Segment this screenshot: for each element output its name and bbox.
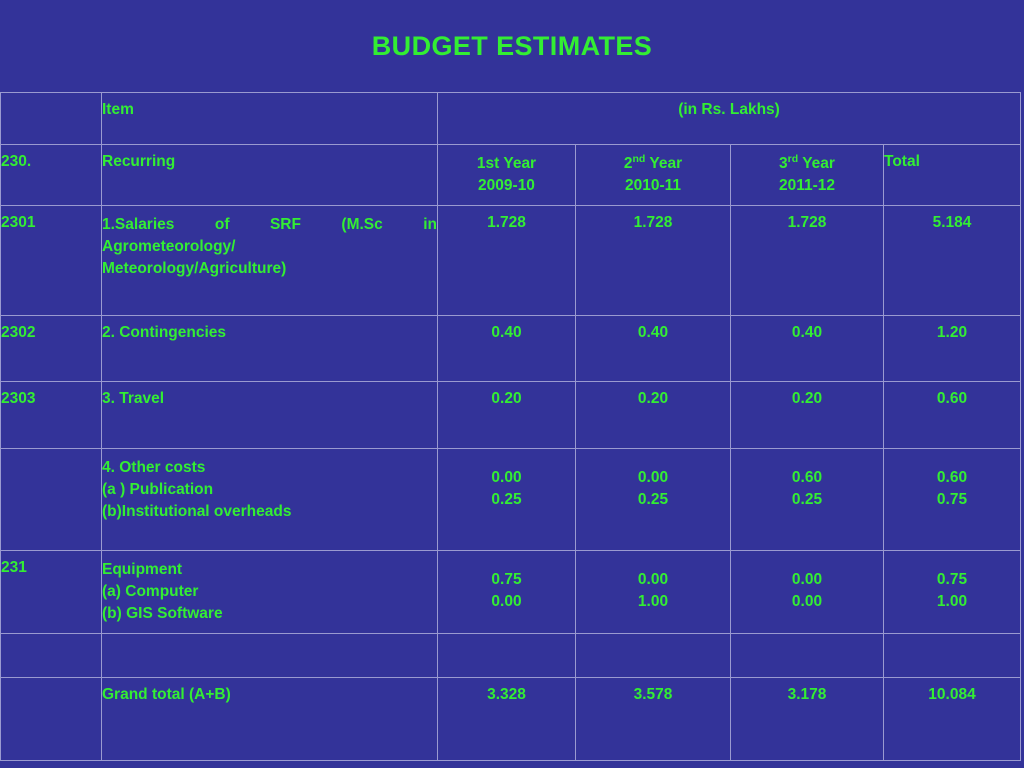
year2-word: Year (645, 155, 682, 172)
row-code: 231 (1, 551, 102, 634)
table-row: 2301 1.Salaries of SRF (M.Sc in Agromete… (1, 206, 1021, 316)
table-row-blank (1, 634, 1021, 678)
title-zone: BUDGET ESTIMATES (0, 0, 1024, 92)
row-year2 (576, 634, 731, 678)
table-row: 2302 2. Contingencies 0.40 0.40 0.40 1.2… (1, 316, 1021, 382)
row-year2: 1.728 (576, 206, 731, 316)
year3-word: Year (798, 155, 835, 172)
table-row-grand-total: Grand total (A+B) 3.328 3.578 3.178 10.0… (1, 678, 1021, 761)
subheader-total: Total (884, 145, 1021, 206)
row-item-line: (a) Computer (102, 581, 437, 603)
row-item: Equipment (a) Computer (b) GIS Software (102, 551, 438, 634)
row-item-line: Equipment (102, 559, 437, 581)
row-item-line: (b)Institutional overheads (102, 501, 437, 523)
row-year1: 0.20 (438, 382, 576, 449)
subheader-code: 230. (1, 145, 102, 206)
row-year3: 1.728 (731, 206, 884, 316)
grand-total-label: Grand total (A+B) (102, 678, 438, 761)
row-year1-value: 0.25 (438, 489, 575, 511)
row-code (1, 634, 102, 678)
row-year1: 0.75 0.00 (438, 551, 576, 634)
grand-total-year1: 3.328 (438, 678, 576, 761)
row-code: 2303 (1, 382, 102, 449)
row-item-line: 4. Other costs (102, 457, 437, 479)
row-code (1, 678, 102, 761)
row-total-value: 0.75 (884, 489, 1020, 511)
year3-num: 3 (779, 155, 788, 172)
subheader-year1-line2: 2009-10 (438, 175, 575, 197)
row-item: 4. Other costs (a ) Publication (b)Insti… (102, 449, 438, 551)
row-year1-value: 0.00 (438, 467, 575, 489)
row-item-line: (b) GIS Software (102, 603, 437, 625)
row-year2: 0.00 1.00 (576, 551, 731, 634)
row-total-value: 1.00 (884, 591, 1020, 613)
row-total: 0.60 0.75 (884, 449, 1021, 551)
row-total: 0.60 (884, 382, 1021, 449)
row-year1: 0.40 (438, 316, 576, 382)
subheader-item: Recurring (102, 145, 438, 206)
row-total-value: 0.75 (884, 569, 1020, 591)
row-item-line: Agrometeorology/ (102, 236, 437, 258)
row-year2-value: 0.00 (576, 467, 730, 489)
row-code: 2301 (1, 206, 102, 316)
year3-ordinal-sup: rd (788, 153, 799, 165)
row-item (102, 634, 438, 678)
row-total: 5.184 (884, 206, 1021, 316)
spacer (576, 457, 730, 467)
row-code (1, 449, 102, 551)
row-total (884, 634, 1021, 678)
row-year1: 1.728 (438, 206, 576, 316)
row-year1-value: 0.00 (438, 591, 575, 613)
subheader-year3: 3rd Year 2011-12 (731, 145, 884, 206)
row-total-value: 0.60 (884, 467, 1020, 489)
row-item: 3. Travel (102, 382, 438, 449)
spacer (576, 559, 730, 569)
spacer (731, 559, 883, 569)
row-year2: 0.40 (576, 316, 731, 382)
year2-ordinal-sup: nd (632, 153, 645, 165)
spacer (884, 559, 1020, 569)
table-row: 2303 3. Travel 0.20 0.20 0.20 0.60 (1, 382, 1021, 449)
slide-canvas: BUDGET ESTIMATES Item (in Rs. Lakhs) 230… (0, 0, 1024, 768)
subheader-year2: 2nd Year 2010-11 (576, 145, 731, 206)
table-subheader-row: 230. Recurring 1st Year 2009-10 2nd Year… (1, 145, 1021, 206)
subheader-year1-line1: 1st Year (438, 153, 575, 175)
row-year3-value: 0.25 (731, 489, 883, 511)
row-year2: 0.20 (576, 382, 731, 449)
row-item: 2. Contingencies (102, 316, 438, 382)
row-year2-value: 0.25 (576, 489, 730, 511)
grand-total-year3: 3.178 (731, 678, 884, 761)
row-total: 1.20 (884, 316, 1021, 382)
row-year3: 0.20 (731, 382, 884, 449)
row-year3-value: 0.00 (731, 569, 883, 591)
row-item-line: Meteorology/Agriculture) (102, 258, 437, 280)
row-year1 (438, 634, 576, 678)
page-title: BUDGET ESTIMATES (372, 31, 652, 62)
table-row: 4. Other costs (a ) Publication (b)Insti… (1, 449, 1021, 551)
row-item-line: 1.Salaries of SRF (M.Sc in (102, 214, 437, 236)
row-year2-value: 0.00 (576, 569, 730, 591)
subheader-year3-line2: 2011-12 (731, 175, 883, 197)
subheader-year2-line1: 2nd Year (576, 153, 730, 175)
row-total: 0.75 1.00 (884, 551, 1021, 634)
spacer (438, 457, 575, 467)
grand-total-year2: 3.578 (576, 678, 731, 761)
row-year3: 0.40 (731, 316, 884, 382)
spacer (438, 559, 575, 569)
row-year3: 0.00 0.00 (731, 551, 884, 634)
row-year1-value: 0.75 (438, 569, 575, 591)
grand-total-total: 10.084 (884, 678, 1021, 761)
header-code-cell (1, 93, 102, 145)
row-year3 (731, 634, 884, 678)
row-year3-value: 0.00 (731, 591, 883, 613)
row-year3: 0.60 0.25 (731, 449, 884, 551)
spacer (731, 457, 883, 467)
table-row: 231 Equipment (a) Computer (b) GIS Softw… (1, 551, 1021, 634)
row-item-line: (a ) Publication (102, 479, 437, 501)
row-year2-value: 1.00 (576, 591, 730, 613)
row-year1: 0.00 0.25 (438, 449, 576, 551)
spacer (884, 457, 1020, 467)
subheader-year1: 1st Year 2009-10 (438, 145, 576, 206)
budget-estimates-table: Item (in Rs. Lakhs) 230. Recurring 1st Y… (0, 92, 1021, 761)
row-year3-value: 0.60 (731, 467, 883, 489)
subheader-year2-line2: 2010-11 (576, 175, 730, 197)
subheader-year3-line1: 3rd Year (731, 153, 883, 175)
table-header-row: Item (in Rs. Lakhs) (1, 93, 1021, 145)
row-code: 2302 (1, 316, 102, 382)
row-year2: 0.00 0.25 (576, 449, 731, 551)
header-item-cell: Item (102, 93, 438, 145)
row-item: 1.Salaries of SRF (M.Sc in Agrometeorolo… (102, 206, 438, 316)
header-unit-cell: (in Rs. Lakhs) (438, 93, 1021, 145)
